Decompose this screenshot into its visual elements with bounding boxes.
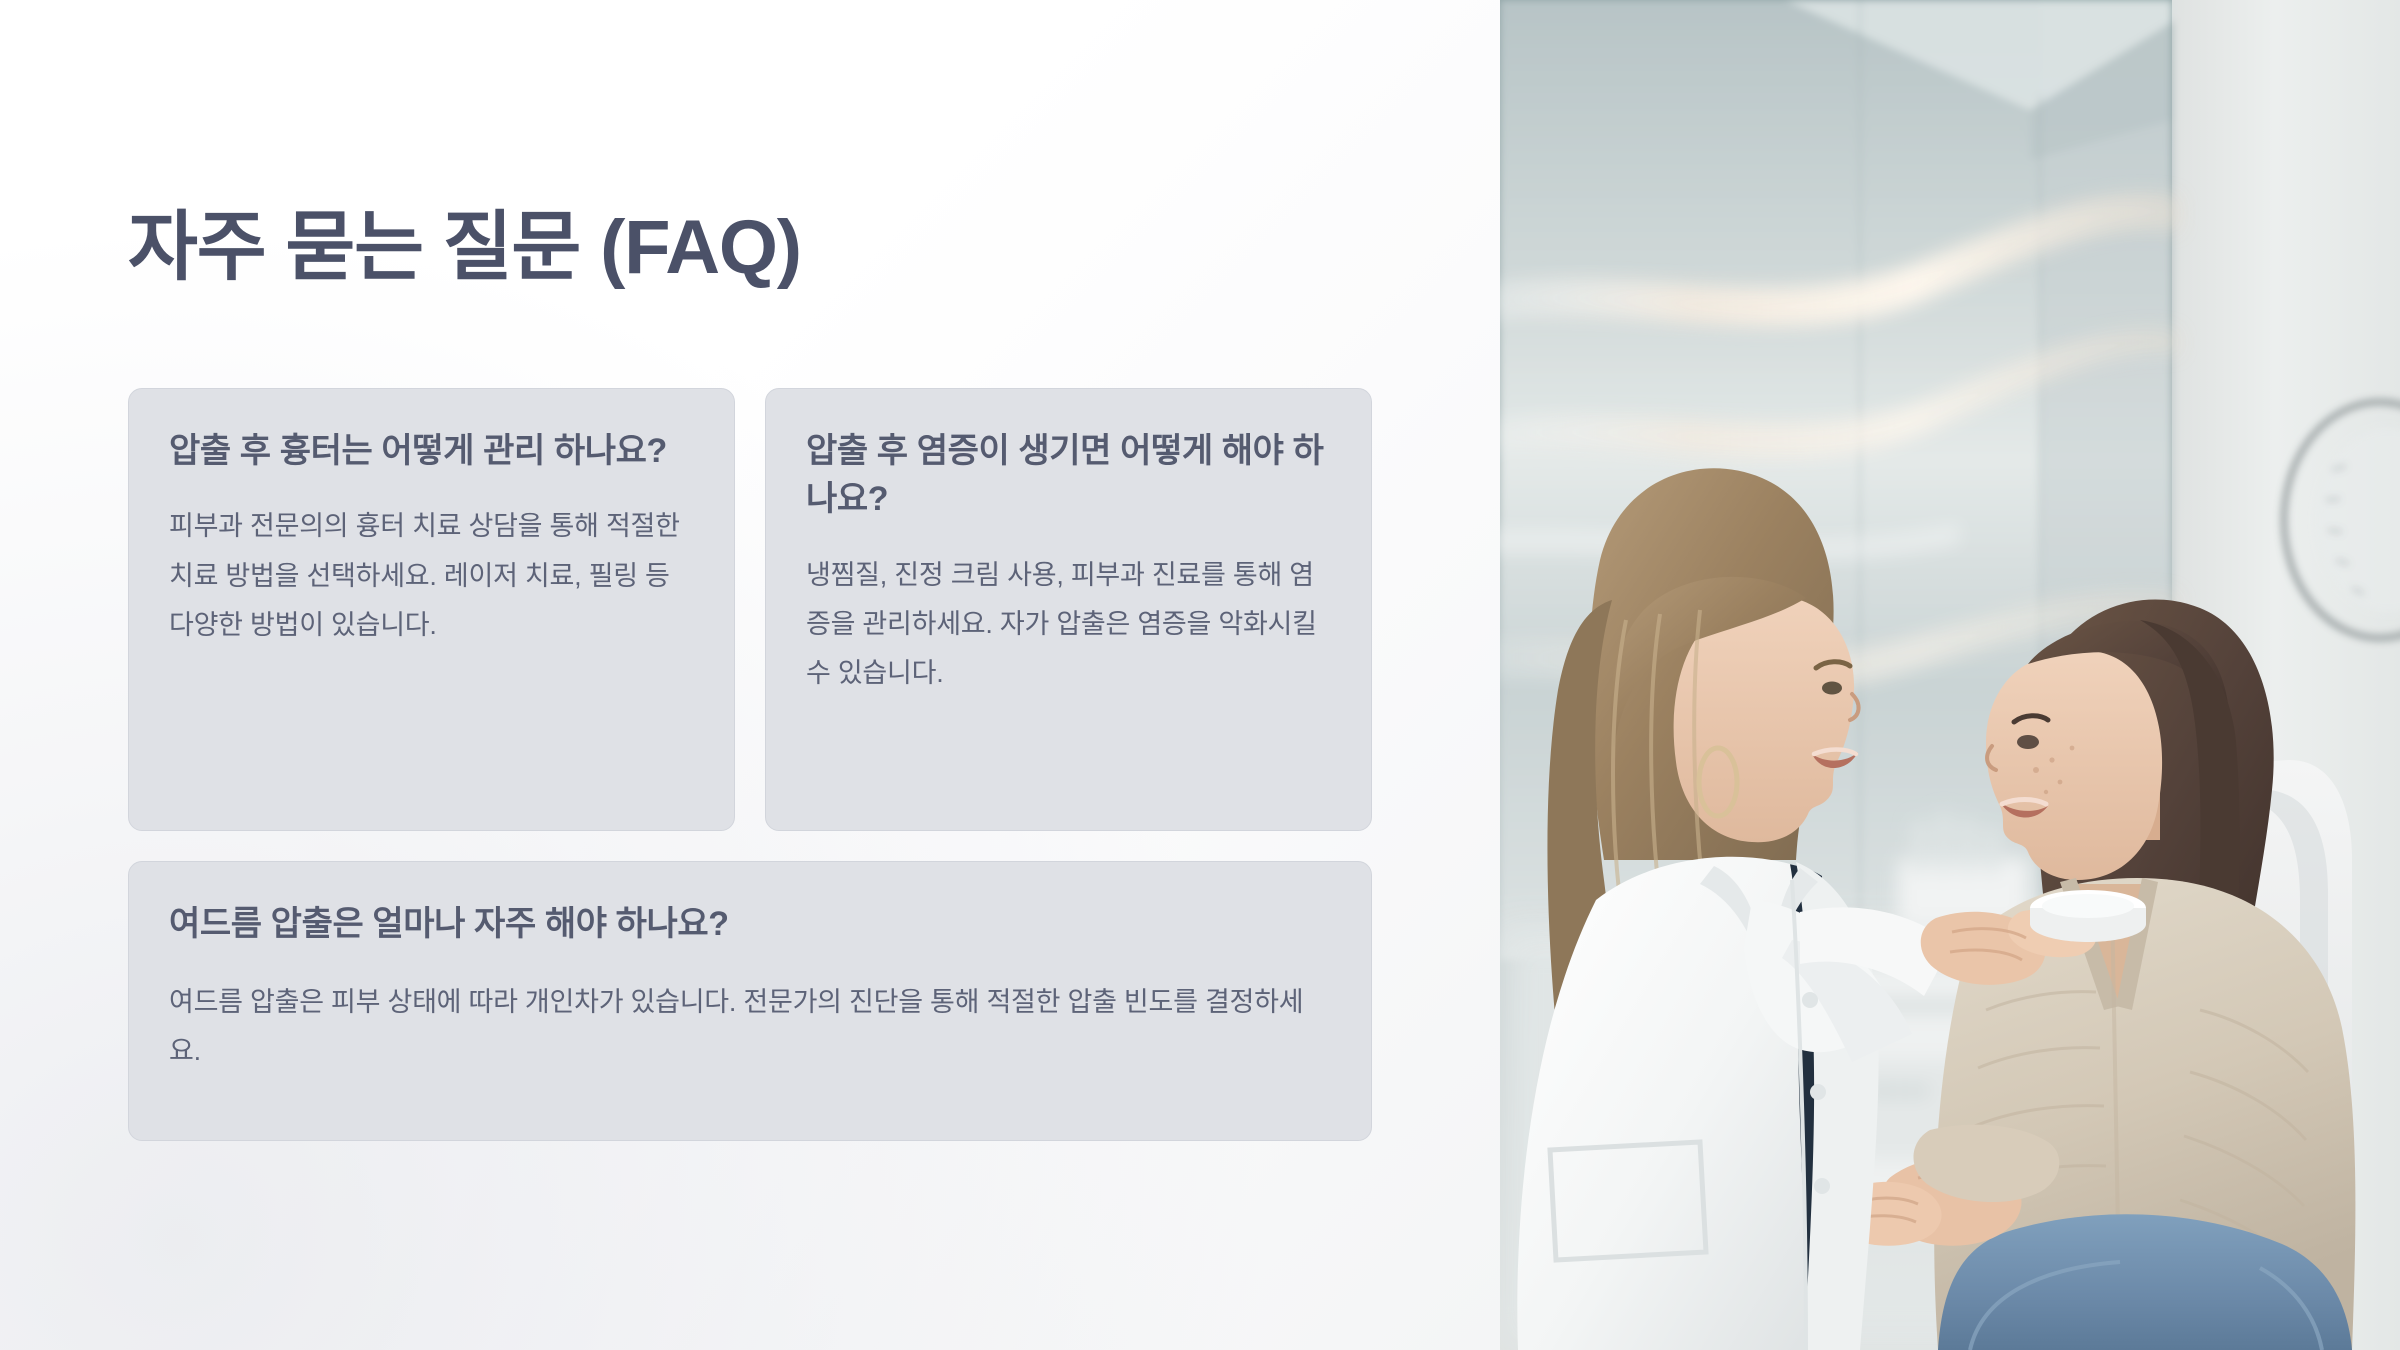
faq-question-1: 압출 후 흉터는 어떻게 관리 하나요? [169, 427, 694, 475]
faq-answer-3: 여드름 압출은 피부 상태에 따라 개인차가 있습니다. 전문가의 진단을 통해… [169, 978, 1331, 1076]
faq-slide: 자주 묻는 질문 (FAQ) 압출 후 흉터는 어떻게 관리 하나요? 피부과 … [0, 0, 2400, 1350]
faq-answer-1: 피부과 전문의의 흉터 치료 상담을 통해 적절한 치료 방법을 선택하세요. … [169, 502, 694, 649]
content-inner: 자주 묻는 질문 (FAQ) 압출 후 흉터는 어떻게 관리 하나요? 피부과 … [0, 205, 1500, 1141]
clinic-photo-illustration [1500, 0, 2400, 1350]
faq-card-2[interactable]: 압출 후 염증이 생기면 어떻게 해야 하나요? 냉찜질, 진정 크림 사용, … [765, 388, 1372, 831]
content-panel: 자주 묻는 질문 (FAQ) 압출 후 흉터는 어떻게 관리 하나요? 피부과 … [0, 0, 1500, 1350]
faq-card-3[interactable]: 여드름 압출은 얼마나 자주 해야 하나요? 여드름 압출은 피부 상태에 따라… [128, 861, 1372, 1141]
faq-question-2: 압출 후 염증이 생기면 어떻게 해야 하나요? [806, 427, 1331, 524]
faq-card-grid: 압출 후 흉터는 어떻게 관리 하나요? 피부과 전문의의 흉터 치료 상담을 … [128, 388, 1372, 1141]
faq-card-1[interactable]: 압출 후 흉터는 어떻게 관리 하나요? 피부과 전문의의 흉터 치료 상담을 … [128, 388, 735, 831]
page-title: 자주 묻는 질문 (FAQ) [128, 205, 1332, 290]
faq-question-3: 여드름 압출은 얼마나 자주 해야 하나요? [169, 902, 1331, 948]
clinic-photo [1500, 0, 2400, 1350]
faq-answer-2: 냉찜질, 진정 크림 사용, 피부과 진료를 통해 염증을 관리하세요. 자가 … [806, 551, 1331, 698]
